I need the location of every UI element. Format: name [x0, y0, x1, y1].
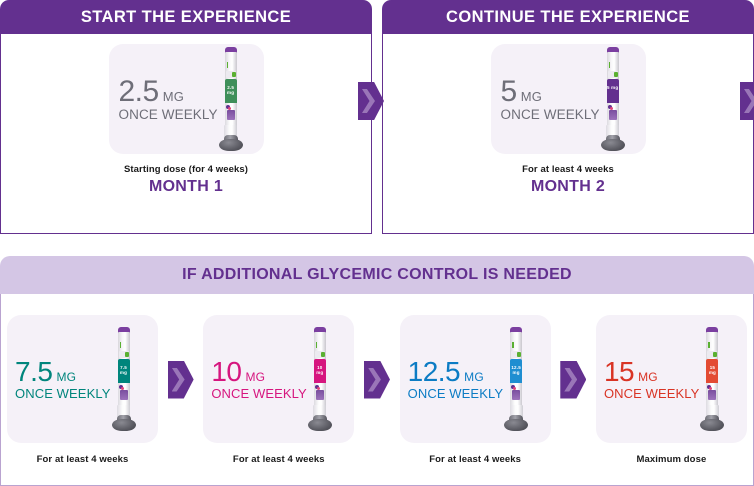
pen-indicator-tick-icon — [609, 62, 611, 68]
dose-value-2-5: 2.5 — [119, 77, 159, 107]
pen-injector-2-5mg: 2.5 mg — [218, 47, 244, 151]
dose-value-5: 5 — [501, 77, 517, 107]
panel-continue-the-experience: CONTINUE THE EXPERIENCE 5 MG ONCE WEEKLY — [382, 0, 754, 234]
dose-unit-15: MG — [638, 371, 658, 383]
arrow-right-icon-step-2 — [364, 361, 390, 399]
dose-frequency-7-5: ONCE WEEKLY — [15, 387, 111, 400]
pen-logo-text-icon — [512, 390, 520, 400]
panel-start-body: 2.5 MG ONCE WEEKLY 2.5 mg — [0, 34, 372, 234]
pen-status-label-icon — [315, 351, 325, 358]
escalation-step-15mg: 15 MG ONCE WEEKLY 15 mg — [596, 315, 747, 465]
pen-status-label-icon — [511, 351, 521, 358]
pen-status-label-icon — [119, 351, 129, 358]
dose-text-7-5mg: 7.5 MG ONCE WEEKLY — [15, 358, 111, 400]
escalation-header: IF ADDITIONAL GLYCEMIC CONTROL IS NEEDED — [0, 256, 754, 294]
pen-indicator-tick-icon — [512, 342, 514, 348]
arrow-right-icon-step-1 — [168, 361, 194, 399]
pen-base-icon — [601, 139, 625, 151]
caption-text-month-2: For at least 4 weeks — [522, 164, 614, 175]
dose-frequency-15: ONCE WEEKLY — [604, 387, 700, 400]
month-label-2: MONTH 2 — [522, 178, 614, 196]
panel-start-the-experience: START THE EXPERIENCE 2.5 MG ONCE WEEKLY — [0, 0, 372, 234]
pen-status-label-icon — [226, 71, 236, 78]
pen-brand-logo — [315, 385, 325, 401]
panel-start-header: START THE EXPERIENCE — [0, 0, 372, 34]
dose-frequency-2-5: ONCE WEEKLY — [119, 108, 218, 122]
caption-text-month-1: Starting dose (for 4 weeks) — [124, 164, 248, 175]
pen-status-label-icon — [608, 71, 618, 78]
pen-dose-band-text: 2.5 mg — [225, 85, 237, 95]
dose-text-5mg: 5 MG ONCE WEEKLY — [501, 77, 600, 122]
caption-text-7-5mg: For at least 4 weeks — [37, 454, 129, 465]
escalation-step-7-5mg: 7.5 MG ONCE WEEKLY 7.5 mg — [7, 315, 158, 465]
dose-card-10mg[interactable]: 10 MG ONCE WEEKLY 10 mg — [203, 315, 354, 443]
pen-base-icon — [308, 419, 332, 431]
caption-month-2: For at least 4 weeks MONTH 2 — [522, 164, 614, 196]
pen-indicator-tick-icon — [227, 62, 229, 68]
dose-unit-10: MG — [245, 371, 265, 383]
panel-continue-header-text: CONTINUE THE EXPERIENCE — [446, 8, 690, 27]
caption-text-10mg: For at least 4 weeks — [233, 454, 325, 465]
caption-month-1: Starting dose (for 4 weeks) MONTH 1 — [124, 164, 248, 196]
top-panel-row: START THE EXPERIENCE 2.5 MG ONCE WEEKLY — [0, 0, 754, 234]
dosing-schedule-infographic: START THE EXPERIENCE 2.5 MG ONCE WEEKLY — [0, 0, 754, 486]
pen-dose-band-text: 12.5 mg — [510, 365, 522, 375]
arrow-right-icon-step-3 — [560, 361, 586, 399]
arrow-right-icon-month-1 — [358, 82, 384, 120]
pen-dose-band-text: 10 mg — [314, 365, 326, 375]
pen-dose-band-text: 5 mg — [607, 85, 619, 90]
dose-unit-12-5: MG — [464, 371, 484, 383]
pen-brand-logo — [226, 105, 236, 121]
escalation-step-12-5mg: 12.5 MG ONCE WEEKLY 12.5 mg — [400, 315, 551, 465]
month-label-1: MONTH 1 — [124, 178, 248, 196]
pen-logo-text-icon — [708, 390, 716, 400]
dose-card-12-5mg[interactable]: 12.5 MG ONCE WEEKLY 12.5 mg — [400, 315, 551, 443]
pen-brand-logo — [119, 385, 129, 401]
pen-indicator-tick-icon — [708, 342, 710, 348]
escalation-header-text: IF ADDITIONAL GLYCEMIC CONTROL IS NEEDED — [182, 266, 572, 284]
pen-dose-band: 12.5 mg — [510, 359, 522, 385]
pen-dose-band: 5 mg — [607, 79, 619, 105]
caption-text-12-5mg: For at least 4 weeks — [429, 454, 521, 465]
dose-frequency-5: ONCE WEEKLY — [501, 108, 600, 122]
pen-logo-text-icon — [316, 390, 324, 400]
dose-frequency-10: ONCE WEEKLY — [211, 387, 307, 400]
dose-unit-2-5: MG — [163, 90, 184, 103]
pen-injector-12-5mg: 12.5 mg — [503, 327, 529, 431]
pen-logo-text-icon — [227, 110, 235, 120]
pen-indicator-tick-icon — [120, 342, 122, 348]
dose-card-7-5mg[interactable]: 7.5 MG ONCE WEEKLY 7.5 mg — [7, 315, 158, 443]
escalation-section: IF ADDITIONAL GLYCEMIC CONTROL IS NEEDED… — [0, 256, 754, 486]
dose-value-10: 10 — [211, 358, 241, 386]
dose-unit-5: MG — [521, 90, 542, 103]
panel-start-header-text: START THE EXPERIENCE — [81, 8, 291, 27]
pen-base-icon — [504, 419, 528, 431]
dose-unit-7-5: MG — [56, 371, 76, 383]
pen-base-icon — [700, 419, 724, 431]
pen-dose-band: 10 mg — [314, 359, 326, 385]
pen-brand-logo — [608, 105, 618, 121]
pen-dose-band: 7.5 mg — [118, 359, 130, 385]
panel-continue-body: 5 MG ONCE WEEKLY 5 mg — [382, 34, 754, 234]
arrow-right-icon-month-2 — [740, 82, 754, 120]
dose-card-2-5mg[interactable]: 2.5 MG ONCE WEEKLY 2.5 mg — [109, 44, 264, 154]
pen-injector-15mg: 15 mg — [699, 327, 725, 431]
dose-text-12-5mg: 12.5 MG ONCE WEEKLY — [408, 358, 504, 400]
pen-brand-logo — [707, 385, 717, 401]
dose-value-15: 15 — [604, 358, 634, 386]
dose-frequency-12-5: ONCE WEEKLY — [408, 387, 504, 400]
pen-base-icon — [219, 139, 243, 151]
dose-card-5mg[interactable]: 5 MG ONCE WEEKLY 5 mg — [491, 44, 646, 154]
dose-text-2-5mg: 2.5 MG ONCE WEEKLY — [119, 77, 218, 122]
pen-brand-logo — [511, 385, 521, 401]
pen-base-icon — [112, 419, 136, 431]
panel-continue-header: CONTINUE THE EXPERIENCE — [382, 0, 754, 34]
dose-text-10mg: 10 MG ONCE WEEKLY — [211, 358, 307, 400]
pen-injector-10mg: 10 mg — [307, 327, 333, 431]
pen-injector-5mg: 5 mg — [600, 47, 626, 151]
pen-dose-band-text: 7.5 mg — [118, 365, 130, 375]
dose-value-7-5: 7.5 — [15, 358, 52, 386]
pen-dose-band: 15 mg — [706, 359, 718, 385]
pen-dose-band-text: 15 mg — [706, 365, 718, 375]
pen-injector-7-5mg: 7.5 mg — [111, 327, 137, 431]
escalation-steps-row: 7.5 MG ONCE WEEKLY 7.5 mg — [0, 294, 754, 486]
pen-logo-text-icon — [120, 390, 128, 400]
dose-value-12-5: 12.5 — [408, 358, 461, 386]
caption-text-15mg: Maximum dose — [637, 454, 707, 465]
pen-dose-band: 2.5 mg — [225, 79, 237, 105]
escalation-step-10mg: 10 MG ONCE WEEKLY 10 mg — [203, 315, 354, 465]
pen-status-label-icon — [707, 351, 717, 358]
pen-indicator-tick-icon — [316, 342, 318, 348]
dose-text-15mg: 15 MG ONCE WEEKLY — [604, 358, 700, 400]
pen-logo-text-icon — [609, 110, 617, 120]
dose-card-15mg[interactable]: 15 MG ONCE WEEKLY 15 mg — [596, 315, 747, 443]
